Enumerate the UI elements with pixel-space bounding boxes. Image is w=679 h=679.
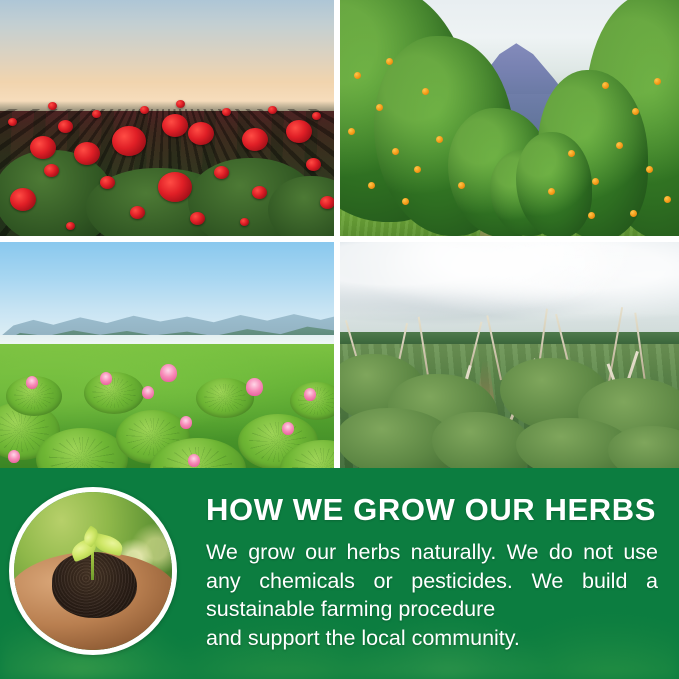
orange-fruit (368, 182, 375, 189)
rose-bloom (240, 218, 249, 226)
rose-bloom (162, 114, 188, 137)
orange-fruit (592, 178, 599, 185)
lotus-flower (282, 422, 294, 435)
orange-fruit (414, 166, 421, 173)
orange-fruit (664, 196, 671, 203)
sunset-sky (0, 0, 334, 111)
rose-bloom (8, 118, 17, 126)
rose-bloom (214, 166, 229, 179)
orange-fruit (354, 72, 361, 79)
rose-bloom (44, 164, 59, 177)
orange-fruit (548, 188, 555, 195)
photo-citrus-orchard-with-mountain: FRESH Drink US (340, 0, 679, 236)
orange-fruit (602, 82, 609, 89)
cloud-layer (340, 242, 679, 332)
lotus-flower (26, 376, 38, 389)
lotus-pad (84, 372, 144, 414)
rose-bloom (158, 172, 192, 202)
panel-body-line-1: We grow our herbs naturally. We do not (206, 540, 613, 564)
rose-bloom (66, 222, 75, 230)
orange-fruit (392, 148, 399, 155)
panel-body-text: We grow our herbs naturally. We do not u… (206, 538, 658, 652)
rose-bloom (312, 112, 321, 120)
product-infographic-page: FRESH Drink US (0, 0, 679, 679)
orange-fruit (386, 58, 393, 65)
orange-fruit (348, 128, 355, 135)
orange-fruit (654, 78, 661, 85)
lotus-flower (246, 378, 263, 396)
rose-bloom (30, 136, 56, 159)
orange-fruit (402, 198, 409, 205)
lotus-pond-scene (0, 242, 334, 468)
rose-bloom (306, 158, 321, 171)
orange-fruit (422, 88, 429, 95)
rose-bloom (320, 196, 334, 209)
lotus-flower (304, 388, 316, 401)
rose-bloom (74, 142, 100, 165)
rose-bloom (112, 126, 146, 156)
orange-fruit (632, 108, 639, 115)
panel-text-block: HOW WE GROW OUR HERBS We grow our herbs … (206, 494, 658, 652)
lotus-flower (180, 416, 192, 429)
photo-vegetable-farm-with-stakes (340, 242, 679, 468)
rose-bloom (176, 100, 185, 108)
orange-fruit (568, 150, 575, 157)
orange-fruit (376, 104, 383, 111)
citrus-tree (516, 132, 592, 236)
rose-bloom (188, 122, 214, 145)
orange-fruit (458, 182, 465, 189)
orange-fruit (646, 166, 653, 173)
rose-bloom (100, 176, 115, 189)
rose-bloom (58, 120, 73, 133)
rose-bloom (48, 102, 57, 110)
rose-bloom (130, 206, 145, 219)
orange-fruit (630, 210, 637, 217)
lotus-flower (160, 364, 177, 382)
panel-heading: HOW WE GROW OUR HERBS (206, 494, 658, 525)
vegetable-farm-scene (340, 242, 679, 468)
lotus-flower (100, 372, 112, 385)
rose-bloom (92, 110, 101, 118)
photo-rose-field-at-sunset (0, 0, 334, 236)
vine-leaf-clump (608, 426, 679, 468)
rose-field-scene (0, 0, 334, 236)
rose-bloom (190, 212, 205, 225)
lotus-flower (188, 454, 200, 467)
hands-holding-soil-seedling-image (9, 487, 177, 655)
rose-bloom (10, 188, 36, 211)
rose-bloom (286, 120, 312, 143)
soil-mound (52, 552, 137, 618)
lotus-flower (142, 386, 154, 399)
rose-bloom (140, 106, 149, 114)
orange-fruit (436, 136, 443, 143)
rose-bloom (242, 128, 268, 151)
citrus-orchard-scene (340, 0, 679, 236)
rose-bloom (252, 186, 267, 199)
orange-fruit (588, 212, 595, 219)
lotus-flower (8, 450, 20, 463)
rose-bloom (268, 106, 277, 114)
panel-body-line-4: and support the local community. (206, 624, 658, 653)
orange-fruit (616, 142, 623, 149)
photo-lotus-pond-field (0, 242, 334, 468)
rose-bloom (222, 108, 231, 116)
